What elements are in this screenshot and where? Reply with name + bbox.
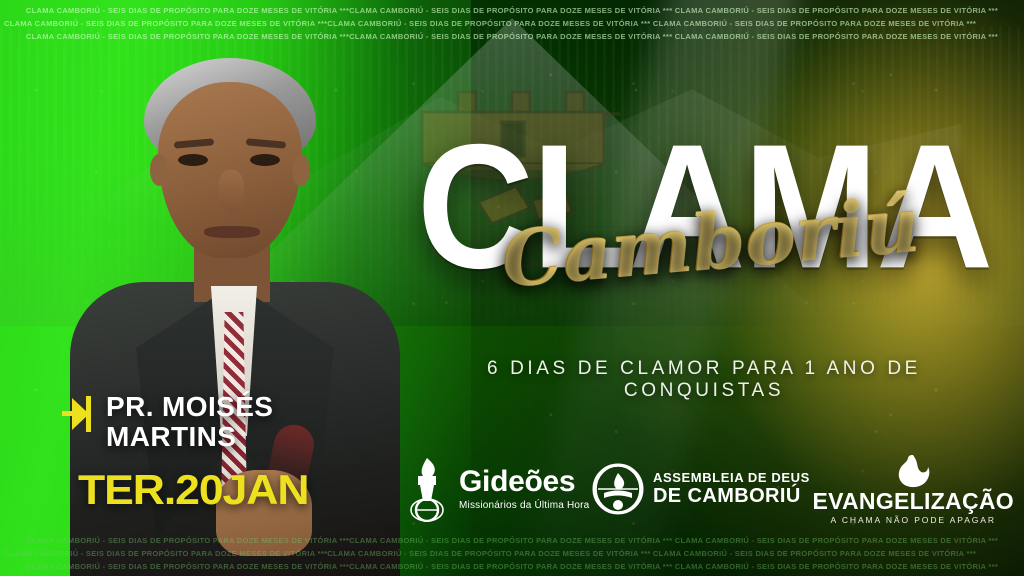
gideoes-name: Gideões	[459, 467, 589, 497]
assembleia-line2: DE CAMBORIÚ	[653, 486, 810, 507]
logo-evangelizacao: EVANGELIZAÇÃO A CHAMA NÃO PODE APAGAR	[812, 454, 1014, 525]
title-block: CLAMA Camboriú	[404, 140, 1004, 272]
speaker-name-block: PR. MOISÉS MARTINS	[62, 392, 273, 452]
logo-gideoes: Gideões Missionários da Última Hora	[404, 456, 589, 522]
speaker-name-line2: MARTINS	[106, 422, 273, 452]
evangelizacao-subtitle: A CHAMA NÃO PODE APAGAR	[831, 515, 996, 525]
logo-assembleia-de-deus: ASSEMBLEIA DE DEUS DE CAMBORIÚ	[592, 463, 810, 515]
assembleia-line1: ASSEMBLEIA DE DEUS	[653, 471, 810, 485]
speaker-name-line1: PR. MOISÉS	[106, 392, 273, 422]
torch-globe-icon	[404, 456, 450, 522]
event-poster: CLAMA CAMBORIÚ - SEIS DIAS DE PROPÓSITO …	[0, 0, 1024, 576]
gideoes-subtitle: Missionários da Última Hora	[459, 500, 589, 511]
tagline: 6 DIAS DE CLAMOR PARA 1 ANO DE CONQUISTA…	[404, 358, 1004, 402]
arrow-into-bar-icon	[62, 396, 92, 432]
flame-icon	[891, 454, 935, 488]
globe-flame-bible-icon	[592, 463, 644, 515]
logo-row: Gideões Missionários da Última Hora ASSE…	[404, 446, 1014, 532]
evangelizacao-name: EVANGELIZAÇÃO	[812, 490, 1014, 513]
event-date: TER.20JAN	[78, 466, 308, 514]
